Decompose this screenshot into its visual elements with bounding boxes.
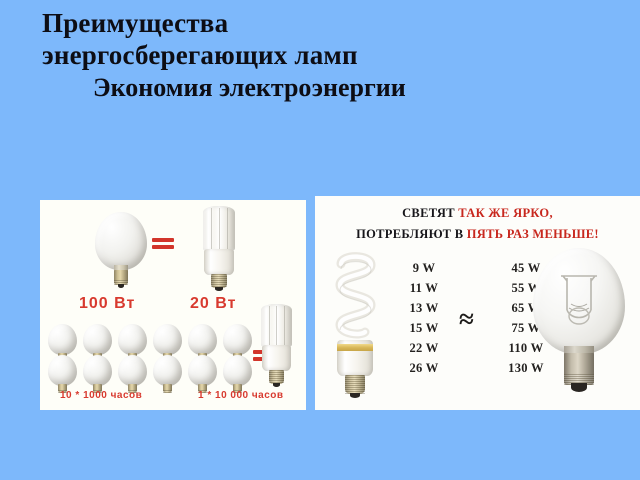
bulb-glass <box>153 355 182 386</box>
incandescent-bulb-clear <box>533 248 625 402</box>
wattage-column-cfl: 9 W 11 W 13 W 15 W 22 W 26 W <box>395 258 453 378</box>
cfl-bulb-large <box>195 206 243 292</box>
incandescent-bulb-small <box>83 355 112 395</box>
bulb-glass <box>83 355 112 386</box>
cfl-tube-ridge <box>276 306 277 346</box>
table-cell-cfl-watt: 26 W <box>395 358 453 378</box>
headline-2-accent: ПЯТЬ РАЗ МЕНЬШЕ! <box>467 227 599 241</box>
headline-2-plain: ПОТРЕБЛЯЮТ В <box>356 227 467 241</box>
approximately-equal-icon: ≈ <box>459 306 474 333</box>
cfl-tip <box>273 383 280 387</box>
bulb-screw-base <box>163 384 172 393</box>
cfl-screw-base <box>211 274 227 288</box>
cfl-spiral-tube <box>327 252 383 348</box>
incandescent-bulb-small <box>153 355 182 395</box>
table-cell-cfl-watt: 15 W <box>395 318 453 338</box>
incandescent-bulb-large <box>95 212 147 288</box>
incandescent-bulb-small <box>223 355 252 395</box>
cfl-screw-base <box>269 370 284 384</box>
bulb-glass <box>153 324 182 355</box>
bulb-glass <box>223 355 252 386</box>
bulb-glass <box>188 324 217 355</box>
headline-1-plain: СВЕТЯТ <box>402 206 458 220</box>
bulb-glass <box>48 355 77 386</box>
table-cell-cfl-watt: 11 W <box>395 278 453 298</box>
label-hours-incandescent: 10 * 1000 часов <box>60 390 142 401</box>
headline-line-1: СВЕТЯТ ТАК ЖЕ ЯРКО, <box>315 206 640 221</box>
table-cell-cfl-watt: 9 W <box>395 258 453 278</box>
bulb-filament <box>533 248 625 354</box>
cfl-tube-ridge <box>211 208 212 250</box>
table-cell-cfl-watt: 22 W <box>395 338 453 358</box>
cfl-tip <box>350 393 360 398</box>
bulb-glass <box>188 355 217 386</box>
right-image-panel: СВЕТЯТ ТАК ЖЕ ЯРКО, ПОТРЕБЛЯЮТ В ПЯТЬ РА… <box>315 196 640 410</box>
left-image-panel: 100 Вт 20 Вт <box>40 200 306 410</box>
bulb-glass <box>118 355 147 386</box>
cfl-bulb-bottom <box>254 304 300 392</box>
bulb-glass <box>95 212 147 270</box>
bulb-glass <box>48 324 77 355</box>
incandescent-bulb-small <box>188 355 217 395</box>
bulb-tip <box>118 284 124 288</box>
cfl-ballast-body <box>204 249 234 275</box>
bulb-glass <box>118 324 147 355</box>
label-hours-cfl: 1 * 10 000 часов <box>198 390 284 401</box>
page-subtitle: Экономия электроэнергии <box>93 71 640 105</box>
headline-line-2: ПОТРЕБЛЯЮТ В ПЯТЬ РАЗ МЕНЬШЕ! <box>315 227 640 242</box>
cfl-tube-ridge <box>219 208 220 250</box>
bulb-screw-base <box>114 270 128 285</box>
headline-1-accent: ТАК ЖЕ ЯРКО, <box>458 206 553 220</box>
label-20w: 20 Вт <box>190 295 236 313</box>
label-100w: 100 Вт <box>79 295 135 313</box>
equals-sign-top <box>152 238 174 249</box>
cfl-brand-band <box>337 344 373 351</box>
bulb-glass <box>223 324 252 355</box>
bulb-screw-base <box>564 353 594 385</box>
incandescent-bulb-small <box>48 355 77 395</box>
bulb-tip <box>571 383 587 392</box>
cfl-tip <box>215 287 223 291</box>
cfl-bulb-spiral <box>327 252 383 402</box>
cfl-tube-ridge <box>227 208 228 250</box>
table-cell-cfl-watt: 13 W <box>395 298 453 318</box>
bulb-glass <box>83 324 112 355</box>
cfl-screw-base <box>345 375 365 394</box>
incandescent-bulb-small <box>118 355 147 395</box>
cfl-tube-ridge <box>269 306 270 346</box>
page-title-line-2: энергосберегающих ламп <box>42 39 640 71</box>
cfl-tube-ridge <box>284 306 285 346</box>
page-title-line-1: Преимущества <box>42 0 640 39</box>
cfl-ballast-body <box>262 345 291 371</box>
slide-title-block: Преимущества энергосберегающих ламп Экон… <box>0 0 640 105</box>
